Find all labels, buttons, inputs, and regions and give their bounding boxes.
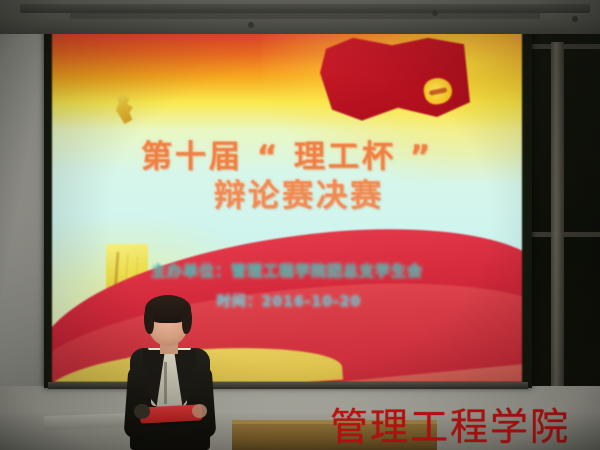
presenter-hair-left: [144, 306, 154, 334]
blackboard-post: [551, 42, 564, 397]
pipe-screw-far-right: [572, 16, 578, 22]
ceiling-pipe-secondary: [70, 13, 540, 19]
presenter-person: [118, 300, 222, 450]
watermark-text: 管理工程学院: [330, 396, 570, 450]
pipe-screw-left: [248, 22, 254, 28]
slide-title-line1: 第十届 “ 理工杯 ”: [52, 140, 522, 175]
left-wall: [0, 0, 44, 450]
presenter-hand-left: [134, 404, 150, 419]
presenter-hand-right: [192, 404, 207, 418]
presenter-arm-right: [190, 365, 217, 438]
presenter-lanyard: [164, 362, 167, 404]
pipe-screw-right: [432, 10, 438, 16]
presenter-hair-right: [182, 306, 192, 334]
gold-ornament-icon: [114, 94, 136, 124]
slide-title: 第十届 “ 理工杯 ” 辩论赛决赛: [52, 140, 522, 213]
slide-title-line2: 辩论赛决赛: [76, 179, 522, 214]
slide-organizer-text: 主办单位：管理工程学院团总支学生会: [52, 260, 522, 281]
photo-scene: 第十届 “ 理工杯 ” 辩论赛决赛 主办单位：管理工程学院团总支学生会 时间：2…: [0, 0, 600, 450]
ceiling-pipe: [20, 4, 590, 13]
